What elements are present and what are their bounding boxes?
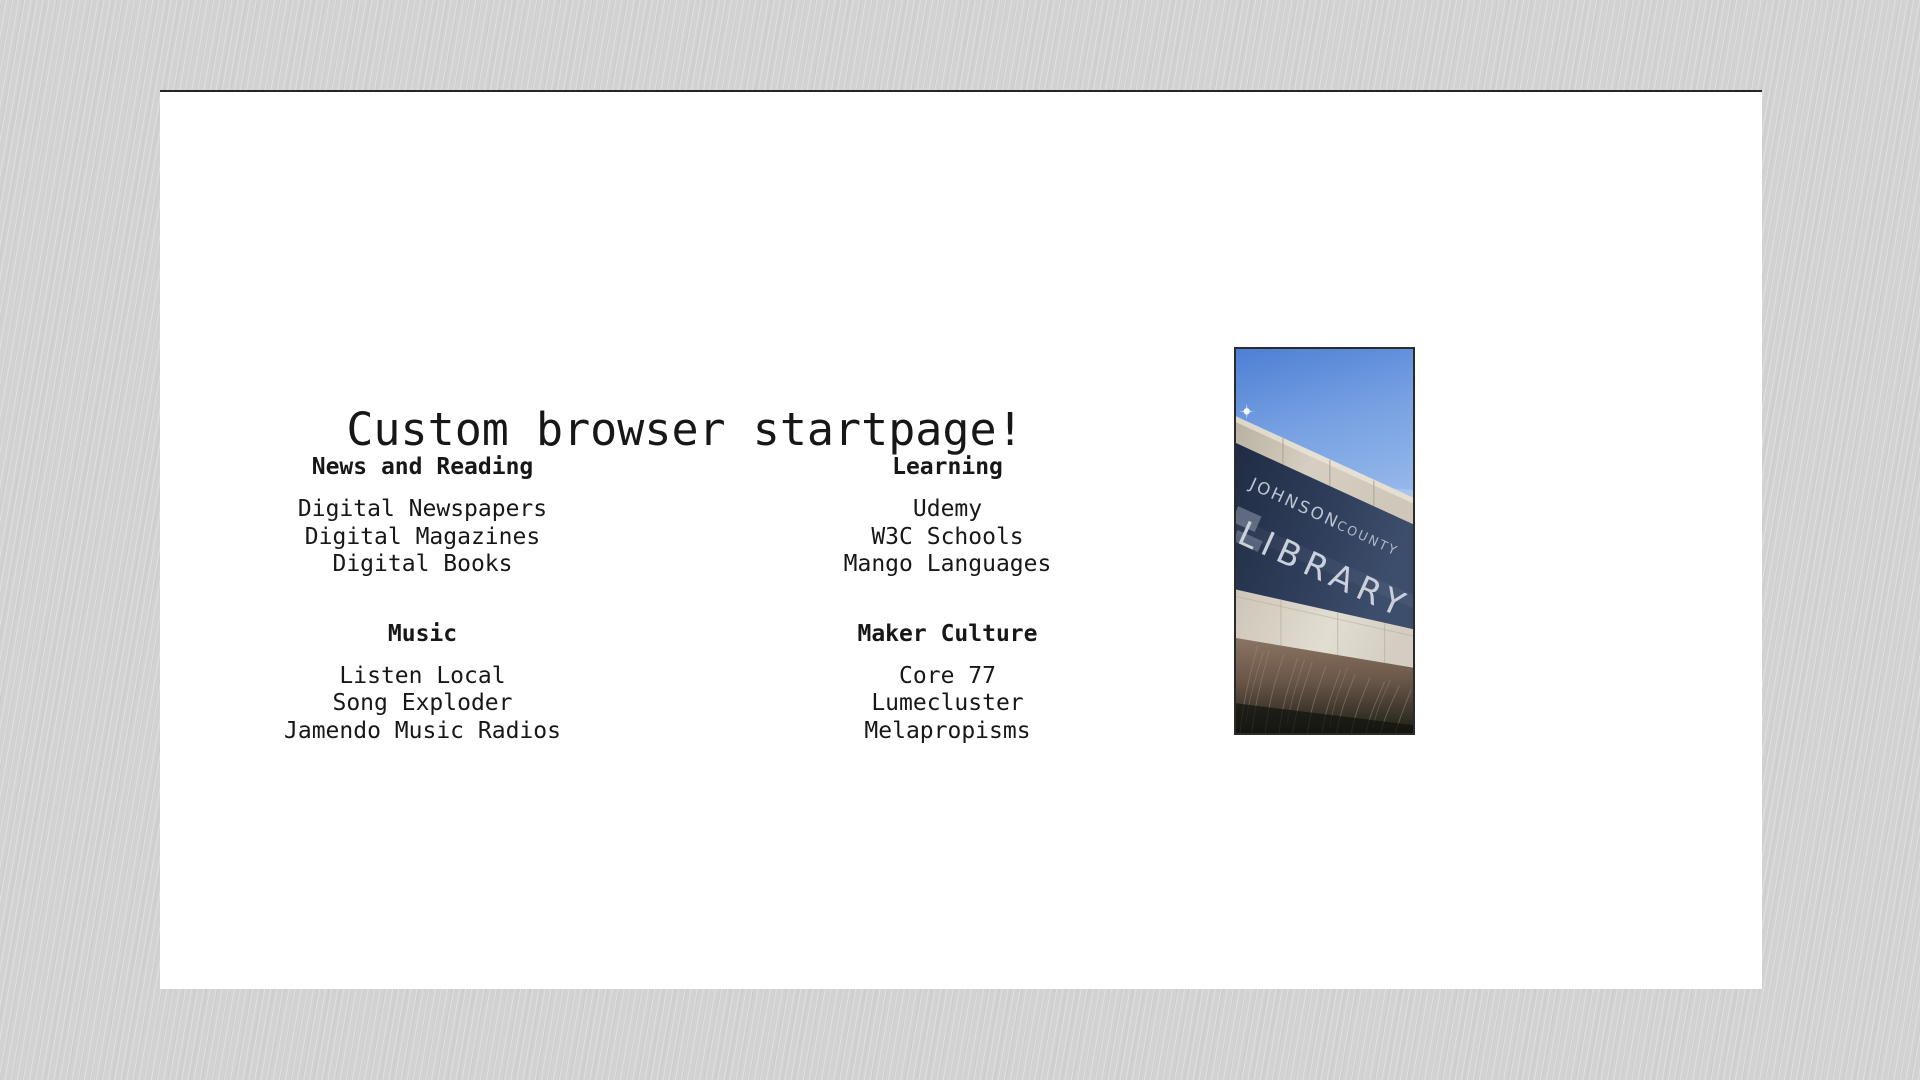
list-item[interactable]: Digital Books (160, 551, 685, 579)
link-lumecluster[interactable]: Lumecluster (871, 690, 1023, 716)
link-list-news-and-reading: Digital Newspapers Digital Magazines Dig… (160, 496, 685, 579)
link-melapropisms[interactable]: Melapropisms (864, 718, 1030, 744)
list-item[interactable]: Listen Local (160, 663, 685, 691)
link-song-exploder[interactable]: Song Exploder (332, 690, 512, 716)
link-group-music: Music Listen Local Song Exploder Jamendo… (160, 619, 685, 746)
list-item[interactable]: Digital Newspapers (160, 496, 685, 524)
list-item[interactable]: Core 77 (685, 663, 1210, 691)
link-udemy[interactable]: Udemy (913, 496, 982, 522)
johnson-county-library-photo: JOHNSON COUNTY LIBRARY (1234, 347, 1415, 735)
link-list-maker-culture: Core 77 Lumecluster Melapropisms (685, 663, 1210, 746)
link-digital-magazines[interactable]: Digital Magazines (305, 524, 540, 550)
list-item[interactable]: Jamendo Music Radios (160, 718, 685, 746)
link-groups-grid: News and Reading Digital Newspapers Digi… (160, 452, 1210, 745)
link-list-music: Listen Local Song Exploder Jamendo Music… (160, 663, 685, 746)
group-heading-maker-culture: Maker Culture (685, 619, 1210, 649)
link-listen-local[interactable]: Listen Local (339, 663, 505, 689)
group-heading-music: Music (160, 619, 685, 649)
link-group-maker-culture: Maker Culture Core 77 Lumecluster Melapr… (685, 619, 1210, 746)
page-title: Custom browser startpage! (160, 404, 1210, 456)
link-w3c-schools[interactable]: W3C Schools (871, 524, 1023, 550)
link-core-77[interactable]: Core 77 (899, 663, 996, 689)
browser-page-surface: Custom browser startpage! News and Readi… (160, 90, 1762, 989)
group-heading-news-and-reading: News and Reading (160, 452, 685, 482)
startpage-content: Custom browser startpage! News and Readi… (160, 92, 1762, 989)
list-item[interactable]: Mango Languages (685, 551, 1210, 579)
link-jamendo-music-radios[interactable]: Jamendo Music Radios (284, 718, 561, 744)
list-item[interactable]: Melapropisms (685, 718, 1210, 746)
list-item[interactable]: Lumecluster (685, 690, 1210, 718)
link-mango-languages[interactable]: Mango Languages (844, 551, 1052, 577)
link-group-news-and-reading: News and Reading Digital Newspapers Digi… (160, 452, 685, 579)
link-digital-books[interactable]: Digital Books (332, 551, 512, 577)
list-item[interactable]: W3C Schools (685, 524, 1210, 552)
list-item[interactable]: Digital Magazines (160, 524, 685, 552)
list-item[interactable]: Udemy (685, 496, 1210, 524)
link-list-learning: Udemy W3C Schools Mango Languages (685, 496, 1210, 579)
group-heading-learning: Learning (685, 452, 1210, 482)
link-digital-newspapers[interactable]: Digital Newspapers (298, 496, 547, 522)
link-group-learning: Learning Udemy W3C Schools Mango Languag… (685, 452, 1210, 579)
library-photo-artwork: JOHNSON COUNTY LIBRARY (1236, 349, 1413, 733)
list-item[interactable]: Song Exploder (160, 690, 685, 718)
